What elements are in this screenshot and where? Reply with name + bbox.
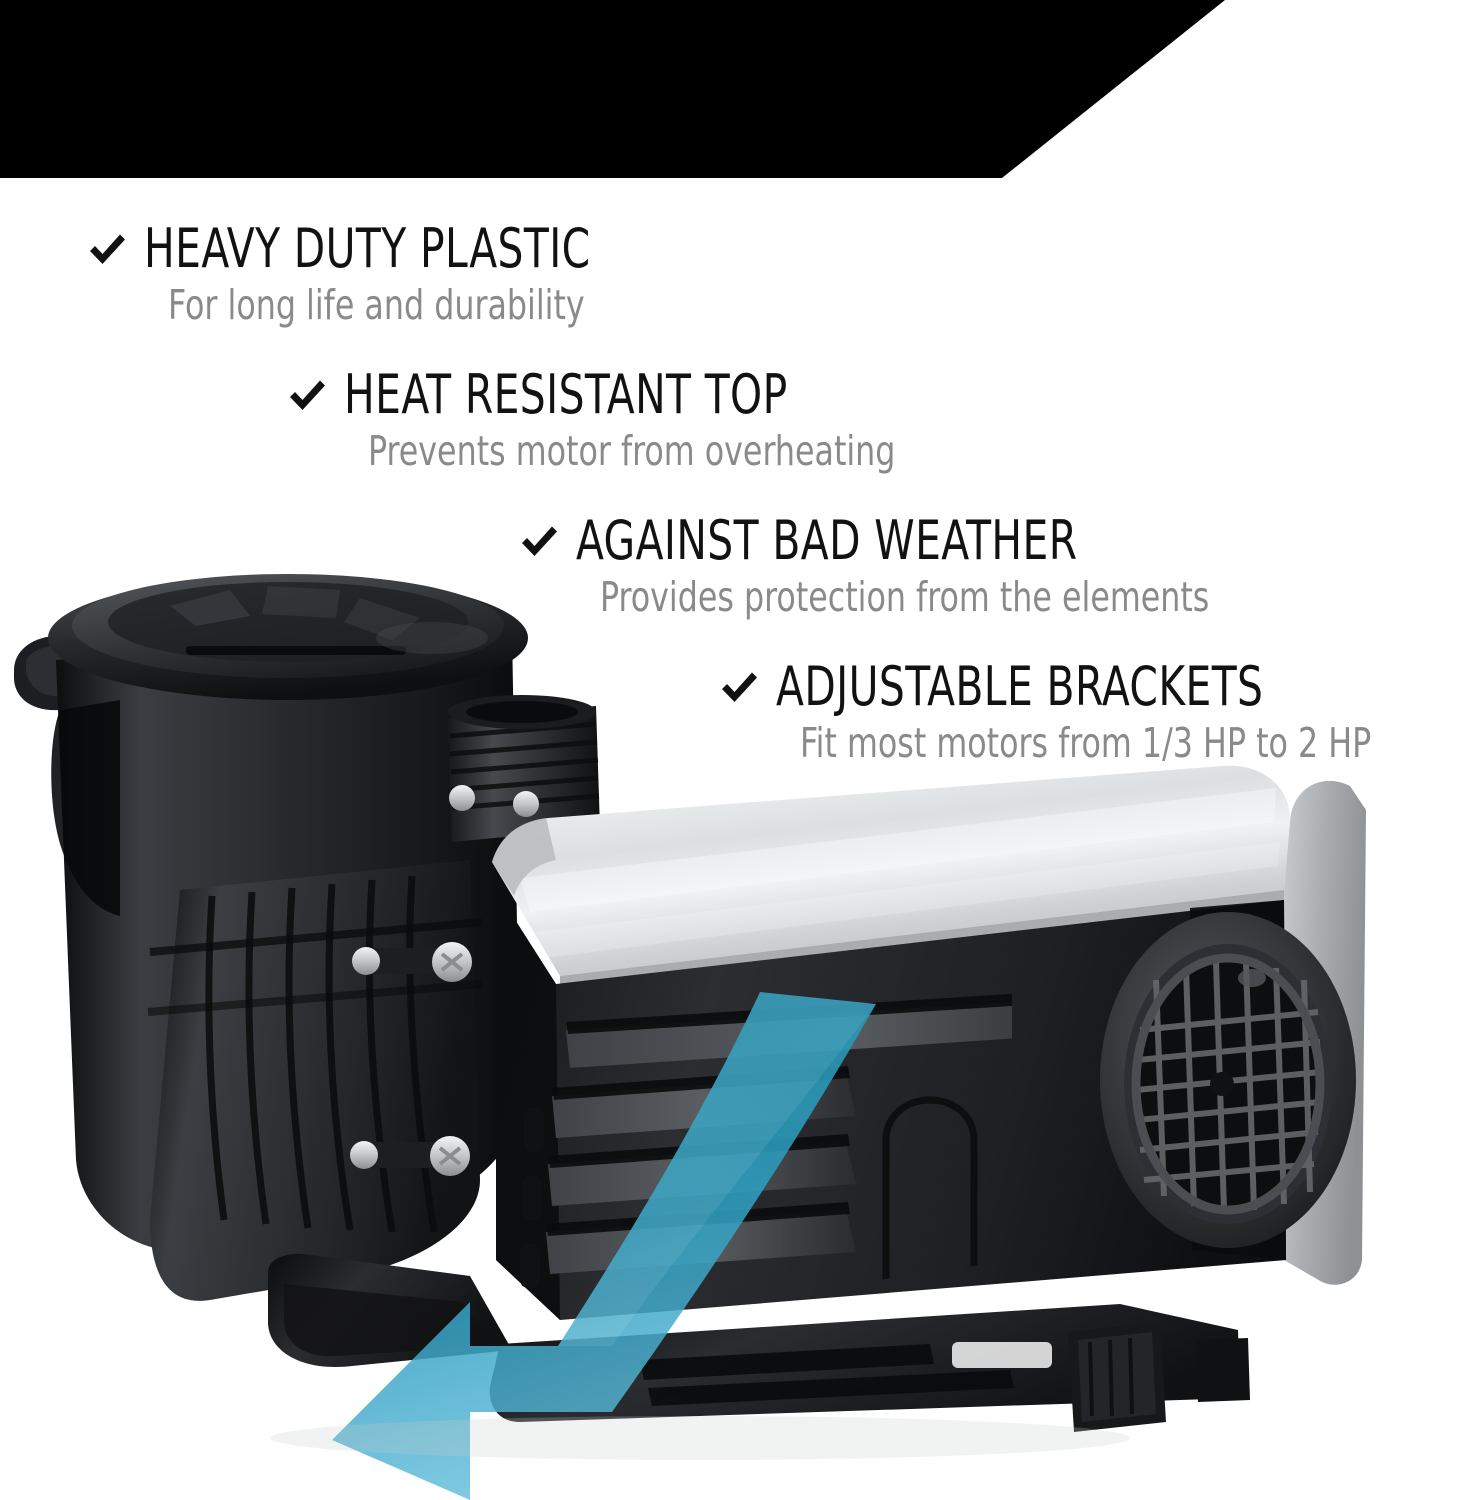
fan-emboss bbox=[1238, 969, 1266, 987]
feature-title: ADJUSTABLE BRACKETS bbox=[776, 658, 1263, 716]
check-icon bbox=[284, 374, 330, 420]
bracket-right-foot bbox=[1196, 1338, 1250, 1402]
header-banner bbox=[0, 0, 1260, 178]
fan-cooling-grille-group bbox=[1100, 912, 1356, 1248]
feature-subtitle: Provides protection from the elements bbox=[600, 574, 1209, 620]
feature-heading: ADJUSTABLE BRACKETS bbox=[716, 658, 1464, 716]
vent-stub bbox=[520, 1244, 540, 1288]
feature-title: HEAT RESISTANT TOP bbox=[344, 366, 788, 424]
lid-emboss bbox=[376, 622, 488, 654]
vent-stub bbox=[524, 1108, 544, 1152]
check-icon bbox=[516, 520, 562, 566]
fan-hub-center bbox=[1210, 1072, 1234, 1096]
lid-slot bbox=[186, 646, 406, 655]
feature-subtitle: Fit most motors from 1/3 HP to 2 HP bbox=[800, 720, 1371, 766]
feature-heading: AGAINST BAD WEATHER bbox=[516, 512, 1309, 570]
lid-rib bbox=[262, 586, 340, 618]
bolt-head-small bbox=[513, 791, 539, 817]
feature-item-heat-resistant-top: HEAT RESISTANT TOP Prevents motor from o… bbox=[284, 366, 981, 474]
feature-item-heavy-duty-plastic: HEAVY DUTY PLASTIC For long life and dur… bbox=[84, 220, 676, 328]
port-bore bbox=[466, 701, 578, 723]
check-icon bbox=[716, 666, 762, 712]
feature-title: HEAVY DUTY PLASTIC bbox=[144, 220, 591, 278]
ground-shadow bbox=[270, 1416, 1130, 1460]
feature-item-against-bad-weather: AGAINST BAD WEATHER Provides protection … bbox=[516, 512, 1309, 620]
strainer-basket-housing-group bbox=[14, 574, 528, 1301]
bolt-head-hex bbox=[350, 1141, 378, 1169]
feature-heading: HEAT RESISTANT TOP bbox=[284, 366, 981, 424]
feature-item-adjustable-brackets: ADJUSTABLE BRACKETS Fit most motors from… bbox=[716, 658, 1464, 766]
pot-left-shadow bbox=[51, 700, 120, 916]
feature-subtitle: For long life and durability bbox=[168, 282, 605, 328]
feature-title: AGAINST BAD WEATHER bbox=[576, 512, 1078, 570]
bolt-head-small bbox=[449, 785, 475, 811]
feature-heading: HEAVY DUTY PLASTIC bbox=[84, 220, 676, 278]
bolt-head-hex bbox=[352, 947, 380, 975]
vent-stub bbox=[522, 1176, 542, 1220]
infographic-page: Why To Select Us HEAVY DUTY PLASTIC For … bbox=[0, 0, 1471, 1500]
check-icon bbox=[84, 228, 130, 274]
feature-subtitle: Prevents motor from overheating bbox=[368, 428, 895, 474]
